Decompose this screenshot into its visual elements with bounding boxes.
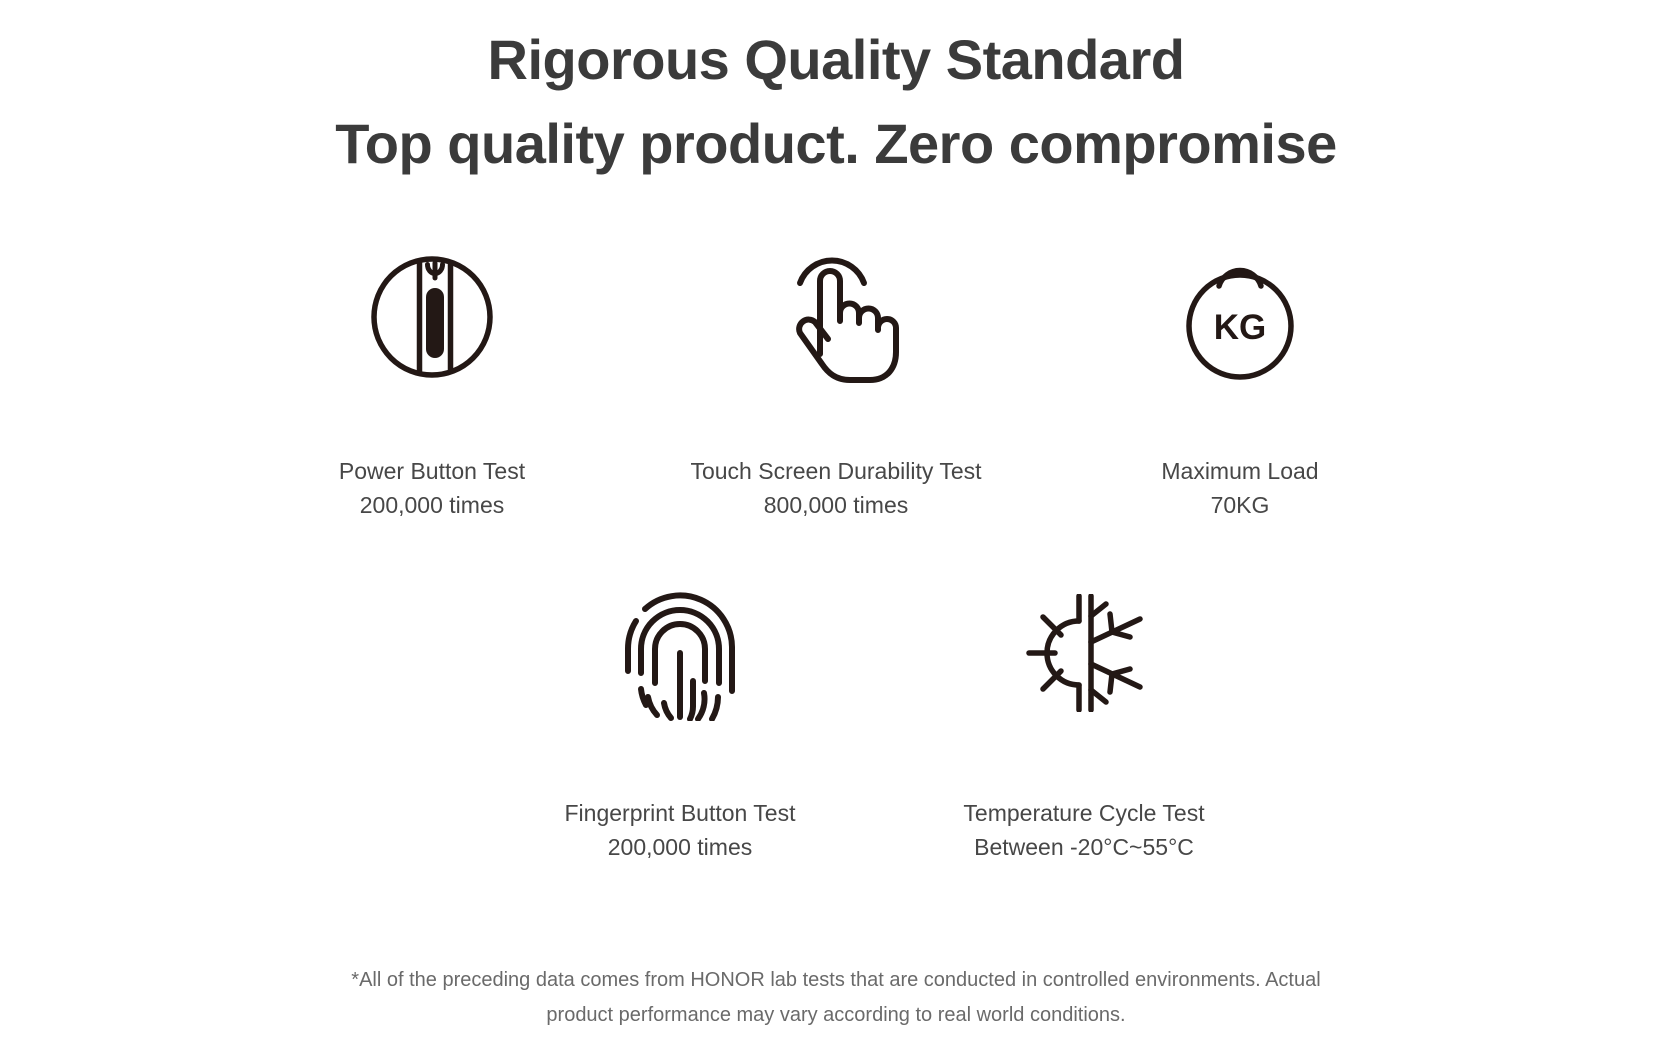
feature-maximum-load: KG Maximum Load 70KG bbox=[1038, 242, 1442, 522]
touch-hand-icon bbox=[773, 242, 899, 392]
feature-fingerprint-button-test: Fingerprint Button Test 200,000 times bbox=[478, 578, 882, 864]
feature-temperature-cycle-test: Temperature Cycle Test Between -20°C~55°… bbox=[882, 578, 1286, 864]
page-title: Rigorous Quality Standard bbox=[0, 18, 1672, 102]
page-subtitle: Top quality product. Zero compromise bbox=[0, 102, 1672, 186]
footnote: *All of the preceding data comes from HO… bbox=[0, 963, 1672, 1033]
power-button-icon bbox=[369, 242, 495, 392]
feature-row-top: Power Button Test 200,000 times Touch Sc… bbox=[166, 242, 1506, 522]
feature-row-bottom: Fingerprint Button Test 200,000 times bbox=[120, 578, 1552, 864]
kg-weight-icon: KG bbox=[1179, 242, 1301, 392]
sun-snowflake-icon bbox=[1022, 578, 1146, 728]
feature-title: Fingerprint Button Test bbox=[565, 796, 796, 830]
feature-value: 200,000 times bbox=[360, 488, 504, 522]
footnote-line-1: *All of the preceding data comes from HO… bbox=[160, 963, 1512, 998]
feature-title: Maximum Load bbox=[1161, 454, 1318, 488]
feature-title: Power Button Test bbox=[339, 454, 525, 488]
heading-block: Rigorous Quality Standard Top quality pr… bbox=[0, 0, 1672, 186]
footnote-line-2: product performance may vary according t… bbox=[160, 998, 1512, 1033]
kg-icon-label: KG bbox=[1214, 308, 1267, 347]
feature-touch-screen-durability-test: Touch Screen Durability Test 800,000 tim… bbox=[634, 242, 1038, 522]
feature-value: 70KG bbox=[1211, 488, 1270, 522]
quality-standard-page: Rigorous Quality Standard Top quality pr… bbox=[0, 0, 1672, 1059]
feature-title: Touch Screen Durability Test bbox=[690, 454, 981, 488]
feature-value: 200,000 times bbox=[608, 830, 752, 864]
feature-grid: Power Button Test 200,000 times Touch Sc… bbox=[0, 242, 1672, 864]
feature-value: Between -20°C~55°C bbox=[974, 830, 1194, 864]
feature-title: Temperature Cycle Test bbox=[963, 796, 1204, 830]
feature-value: 800,000 times bbox=[764, 488, 908, 522]
fingerprint-icon bbox=[623, 578, 737, 728]
feature-power-button-test: Power Button Test 200,000 times bbox=[230, 242, 634, 522]
